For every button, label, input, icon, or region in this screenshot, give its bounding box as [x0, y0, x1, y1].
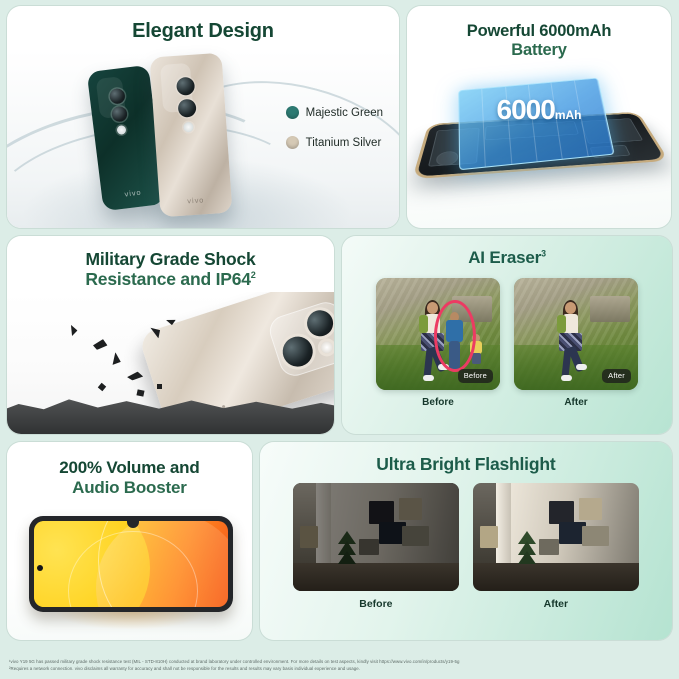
legend-label: Titanium Silver: [306, 137, 382, 149]
wall-panel: [582, 526, 609, 545]
legend-item-majestic-green: Majestic Green: [286, 106, 383, 119]
photo-before: Before: [376, 278, 500, 390]
wall-panel: [480, 526, 498, 548]
wall-panel: [402, 526, 429, 545]
camera-lens-icon: [176, 77, 195, 96]
phone-titanium-silver: vivo: [150, 53, 233, 218]
flashlight-after: After: [473, 483, 639, 610]
volume-artwork: [7, 506, 252, 640]
shoe: [423, 375, 434, 381]
wall-panel: [579, 498, 602, 520]
wall-panel: [539, 539, 559, 554]
color-swatch-icon: [286, 106, 299, 119]
photo-after: After: [514, 278, 638, 390]
debris-shard: [157, 384, 162, 389]
row-1: Elegant Design vivo: [7, 6, 672, 228]
panel-title-ai-eraser: AI Eraser3: [342, 236, 672, 268]
flash-led-icon: [116, 125, 126, 135]
panel-title-battery: Powerful 6000mAh Battery: [407, 6, 671, 60]
caption-before: Before: [293, 598, 459, 610]
room-photo-before: [293, 483, 459, 591]
color-swatch-icon: [286, 136, 299, 149]
phone-landscape: [29, 516, 233, 612]
panel-flashlight: Ultra Bright Flashlight: [260, 442, 672, 640]
flashlight-comparison: Before: [260, 483, 672, 610]
comparison-after: After After: [514, 278, 638, 408]
panel-volume-booster: 200% Volume and Audio Booster: [7, 442, 252, 640]
phone-screen: [34, 521, 228, 607]
stone-ruin: [590, 296, 630, 322]
legend-label: Majestic Green: [306, 107, 383, 119]
panel-title-battery-line2: Battery: [407, 41, 671, 60]
camera-lens-icon: [178, 99, 197, 118]
panel-title-volume-line2: Audio Booster: [7, 478, 252, 498]
footnote-marker: 3: [541, 248, 546, 258]
camera-lens-icon: [279, 333, 317, 371]
flash-led-icon: [319, 340, 334, 355]
floor: [473, 563, 639, 591]
photo-badge-after: After: [602, 369, 631, 383]
floor: [293, 563, 459, 591]
panel-title-volume-line1: 200% Volume and: [59, 458, 199, 477]
legend-item-titanium-silver: Titanium Silver: [286, 136, 383, 149]
caption-after: After: [473, 598, 639, 610]
brand-logo: vivo: [102, 186, 165, 201]
christmas-tree-icon: [336, 531, 358, 565]
panel-elegant-design: Elegant Design vivo: [7, 6, 399, 228]
wall-panel: [369, 501, 394, 525]
before-after-pair: Before Before: [342, 278, 672, 408]
backpack: [557, 315, 566, 333]
panel-military-grade: Military Grade Shock Resistance and IP64…: [7, 236, 334, 434]
footnote-marker: 2: [251, 270, 256, 280]
camera-lens-icon: [109, 88, 126, 105]
panel-title-flashlight: Ultra Bright Flashlight: [260, 442, 672, 474]
backpack: [419, 315, 428, 333]
panel-title-military-line1: Military Grade Shock: [85, 249, 255, 269]
person-main-subject: [554, 302, 588, 380]
panel-title-military-line2: Resistance and IP642: [7, 269, 334, 289]
footer-disclaimer: ¹vivo Y19 5G has passed military grade s…: [9, 658, 670, 673]
row-2: Military Grade Shock Resistance and IP64…: [7, 236, 672, 434]
photo-badge-before: Before: [458, 369, 493, 383]
pillar: [316, 483, 331, 567]
battery-capacity-unit: mAh: [555, 108, 582, 122]
debris-shard: [136, 389, 144, 396]
front-camera-icon: [37, 565, 43, 571]
brand-logo: vivo: [159, 194, 231, 207]
shoe: [561, 375, 572, 381]
wall-panel: [549, 501, 574, 525]
camera-island: [160, 63, 193, 113]
camera-island: [266, 298, 334, 380]
camera-lens-icon: [111, 106, 128, 123]
row-3: 200% Volume and Audio Booster: [7, 442, 672, 640]
caption-before: Before: [376, 397, 500, 408]
flash-led-icon: [183, 122, 194, 133]
battery-capacity-label: 6000mAh: [407, 96, 671, 124]
camera-island: [96, 76, 127, 119]
elegant-design-artwork: vivo vivo Majestic Green: [7, 50, 399, 228]
christmas-tree-icon: [516, 531, 538, 565]
wall-panel: [300, 526, 318, 548]
footnote-line-2: ²Requires a network connection. vivo dis…: [9, 665, 670, 673]
head: [565, 302, 576, 314]
color-legend: Majestic Green Titanium Silver: [286, 106, 383, 166]
panel-title-volume: 200% Volume and Audio Booster: [7, 442, 252, 497]
pillar: [496, 483, 511, 567]
caption-after: After: [514, 397, 638, 408]
battery-capacity-value: 6000: [497, 94, 555, 125]
panel-battery: Powerful 6000mAh Battery 6000mAh: [407, 6, 671, 228]
military-artwork: [7, 292, 334, 434]
shoe: [576, 364, 587, 370]
footnote-line-1: ¹vivo Y19 5G has passed military grade s…: [9, 658, 670, 666]
camera-lens-icon: [304, 307, 334, 340]
panel-title-battery-line1: Powerful 6000mAh: [467, 22, 611, 40]
panel-ai-eraser: AI Eraser3: [342, 236, 672, 434]
wall-panel: [359, 539, 379, 554]
battery-artwork: 6000mAh: [407, 68, 671, 228]
comparison-before: Before Before: [376, 278, 500, 408]
selection-circle-highlight: [434, 300, 476, 372]
panel-title-elegant-design: Elegant Design: [7, 6, 399, 43]
flashlight-before: Before: [293, 483, 459, 610]
leg: [472, 353, 481, 364]
infographic-page: Elegant Design vivo: [0, 0, 679, 679]
head: [427, 302, 438, 314]
panel-title-military: Military Grade Shock Resistance and IP64…: [7, 236, 334, 290]
wall-panel: [399, 498, 422, 520]
room-photo-after: [473, 483, 639, 591]
